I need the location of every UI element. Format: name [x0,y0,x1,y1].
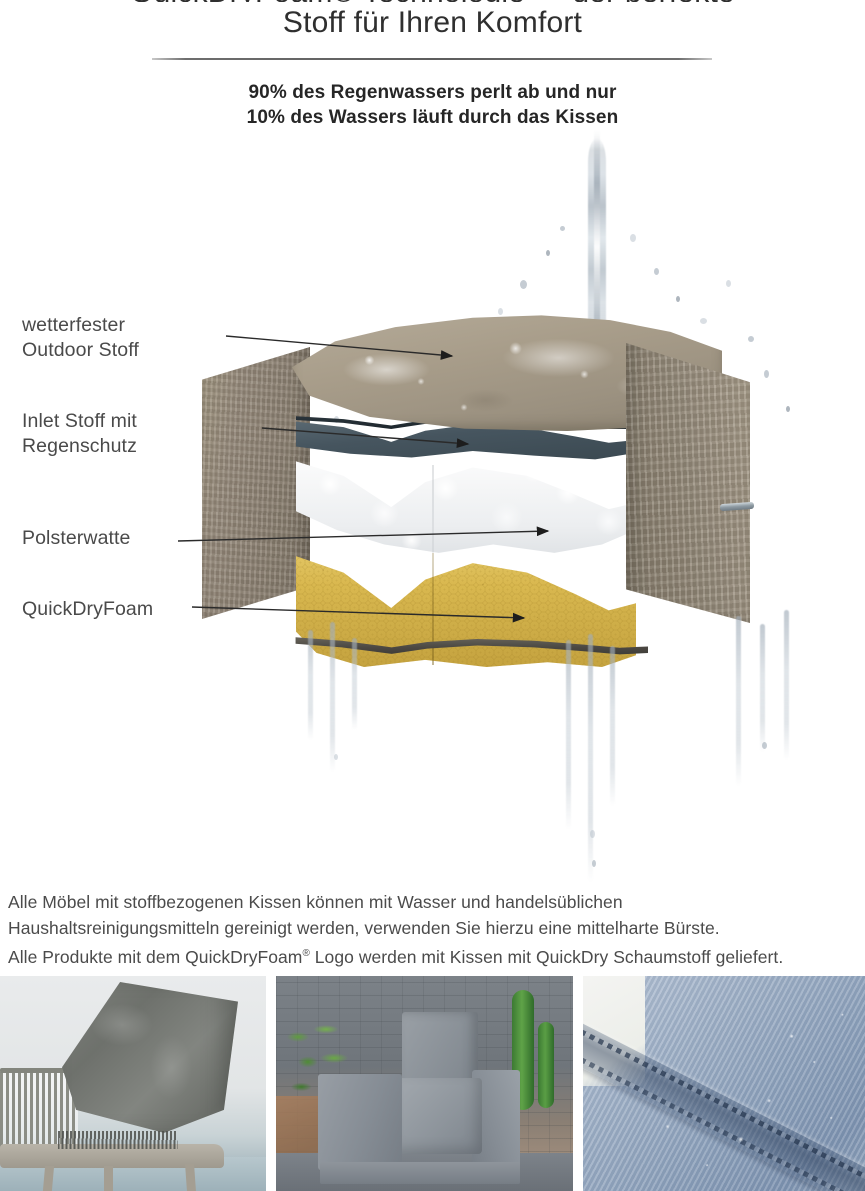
photo-chair-cover [0,976,266,1191]
splash-droplet [764,370,769,378]
outdoor-fabric-right-face [626,343,750,623]
water-drip [308,630,313,740]
photo-armchair-cover [276,976,573,1191]
wadding-layer [296,453,636,557]
callout-label-inlet-fabric: Inlet Stoff mit Regenschutz [22,409,137,459]
splash-droplet [654,268,659,275]
chair-leg [104,1166,113,1191]
armchair-base-cover [320,1162,520,1184]
body-copy-line-3: Alle Produkte mit dem QuickDryFoam® Logo… [8,941,858,970]
subheadline-line-2: 10% des Wassers läuft durch das Kissen [0,105,865,130]
splash-droplet [786,406,790,412]
page-title-cutoff: QuickDryFoam® Technologie — der perfekte [0,0,865,2]
splash-droplet [520,280,527,289]
splash-droplet [546,250,550,256]
photo-strip [0,976,865,1191]
water-drip [330,622,335,772]
callout-label-quickdryfoam: QuickDryFoam [22,597,153,622]
water-beads [583,976,865,1191]
callout-label-wadding: Polsterwatte [22,526,131,551]
water-drip-droplet [334,754,338,760]
chair-leg [185,1164,196,1191]
subheadline-line-1: 90% des Regenwassers perlt ab und nur [0,80,865,105]
water-drip [610,646,615,806]
wadding-crease [432,465,434,553]
body-copy: Alle Möbel mit stoffbezogenen Kissen kön… [8,890,858,970]
water-drip-droplet [592,860,596,867]
splash-droplet [630,234,636,242]
splash-droplet [726,280,731,287]
cover-fringe [58,1131,178,1149]
splash-droplet [560,226,565,231]
splash-droplet [676,296,680,302]
body-copy-line-3-a: Alle Produkte mit dem QuickDryFoam [8,947,302,967]
body-copy-line-3-b: Logo werden mit Kissen mit QuickDry Scha… [310,947,783,967]
title-divider [152,58,712,60]
water-drip-droplet [762,742,767,749]
armchair-seat-cushion-cover [398,1078,482,1154]
body-copy-line-1: Alle Möbel mit stoffbezogenen Kissen kön… [8,890,858,916]
water-drip [736,616,741,786]
subheadline: 90% des Regenwassers perlt ab und nur 10… [0,80,865,130]
body-copy-line-2: Haushaltsreinigungsmitteln gereinigt wer… [8,916,858,942]
cactus [538,1022,554,1108]
photo-fabric-macro [583,976,865,1191]
registered-trademark-symbol: ® [302,948,309,959]
water-drip [352,638,357,730]
water-drip [588,634,593,882]
armchair-left-arm-cover [318,1074,402,1170]
cushion-diagram-illustration [0,130,865,890]
header: QuickDryFoam® Technologie — der perfekte… [0,0,865,140]
callout-label-outdoor-fabric: wetterfester Outdoor Stoff [22,313,139,363]
water-drip-droplet [590,830,595,838]
cushion-block [196,305,756,665]
outdoor-fabric-left-face [202,347,310,619]
water-drip [760,624,765,752]
page-title: Stoff für Ihren Komfort [0,6,865,40]
water-drip [566,640,571,830]
water-drip [784,610,789,760]
